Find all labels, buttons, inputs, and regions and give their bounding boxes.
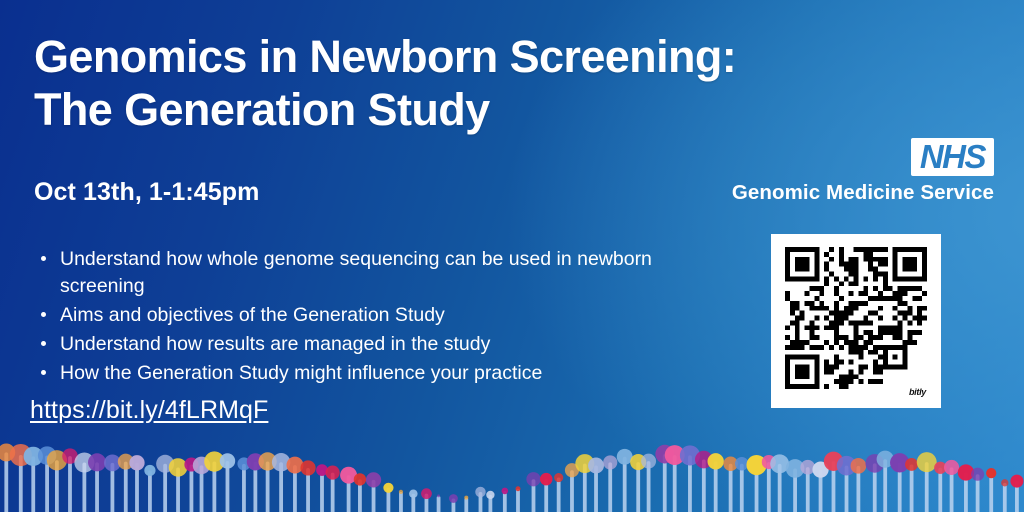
- bitly-watermark: bitly: [908, 387, 927, 397]
- event-datetime: Oct 13th, 1-1:45pm: [34, 178, 259, 207]
- registration-link[interactable]: https://bit.ly/4fLRMqF: [30, 396, 268, 425]
- list-item: Aims and objectives of the Generation St…: [34, 302, 724, 329]
- page-title: Genomics in Newborn Screening: The Gener…: [34, 30, 1014, 136]
- title-line-1: Genomics in Newborn Screening:: [34, 30, 1014, 83]
- qr-code-card[interactable]: bitly: [771, 234, 941, 408]
- list-item: Understand how whole genome sequencing c…: [34, 246, 724, 300]
- nhs-logo-text: NHS: [920, 140, 985, 173]
- nhs-service-name: Genomic Medicine Service: [732, 181, 994, 205]
- nhs-logo: NHS: [911, 138, 994, 176]
- dna-pin-wave-svg: [0, 426, 1024, 512]
- nhs-branding: NHS Genomic Medicine Service: [732, 138, 994, 205]
- list-item: Understand how results are managed in th…: [34, 331, 724, 358]
- list-item: How the Generation Study might influence…: [34, 360, 724, 387]
- dna-pin-wave-decoration: [0, 426, 1024, 512]
- poster-canvas: Genomics in Newborn Screening: The Gener…: [0, 0, 1024, 512]
- objectives-list: Understand how whole genome sequencing c…: [34, 246, 724, 389]
- qr-inner: bitly: [785, 247, 927, 395]
- title-line-2: The Generation Study: [34, 83, 1014, 136]
- qr-code-icon: [785, 247, 927, 389]
